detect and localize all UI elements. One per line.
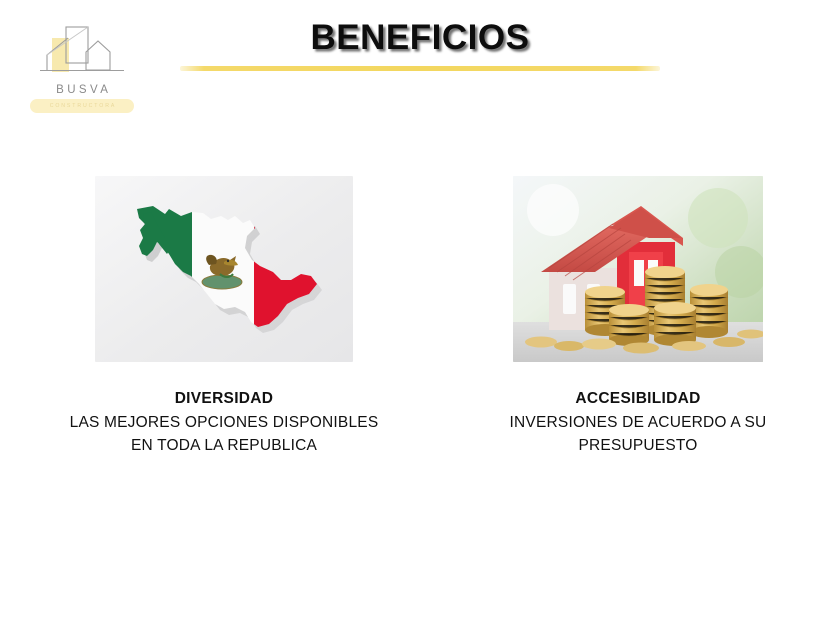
benefit-description-line-1: INVERSIONES DE ACUERDO A SU (450, 412, 826, 435)
brand-logo: BUSVA CONSTRUCTORA (28, 24, 136, 122)
benefit-card-diversidad: DIVERSIDAD LAS MEJORES OPCIONES DISPONIB… (36, 176, 412, 458)
building-outline-icon (28, 24, 136, 84)
logo-subtitle: CONSTRUCTORA (48, 103, 116, 109)
benefit-description-line-1: LAS MEJORES OPCIONES DISPONIBLES (36, 412, 412, 435)
logo-wordmark: BUSVA (28, 84, 136, 96)
benefit-description-line-2: EN TODA LA REPUBLICA (36, 435, 412, 458)
benefit-description-line-2: PRESUPUESTO (450, 435, 826, 458)
page-title: BENEFICIOS (180, 18, 660, 58)
house-with-coin-stacks-image (513, 176, 763, 362)
house-coins-svg (513, 176, 763, 362)
benefit-heading: ACCESIBILIDAD (450, 390, 826, 408)
mexico-map-flag-image (95, 176, 353, 362)
benefit-heading: DIVERSIDAD (36, 390, 412, 408)
benefit-description: INVERSIONES DE ACUERDO A SU PRESUPUESTO (450, 412, 826, 458)
mexico-silhouette-svg (95, 176, 353, 362)
benefit-card-accesibilidad: ACCESIBILIDAD INVERSIONES DE ACUERDO A S… (450, 176, 826, 458)
logo-subtitle-pill: CONSTRUCTORA (30, 99, 134, 113)
title-underline-rule (180, 66, 660, 71)
benefit-description: LAS MEJORES OPCIONES DISPONIBLES EN TODA… (36, 412, 412, 458)
